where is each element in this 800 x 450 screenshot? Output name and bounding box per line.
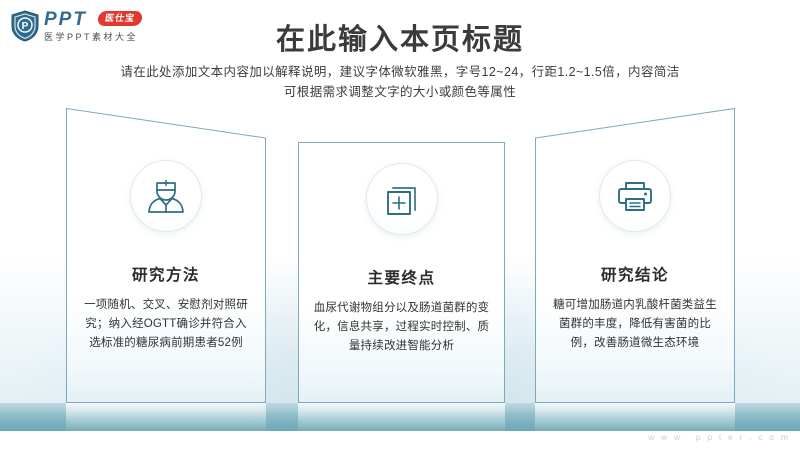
- panel-content: 主要终点 血尿代谢物组分以及肠道菌群的变化，信息共享，过程实时控制、质量持续改进…: [298, 163, 505, 356]
- reflection-panel-2: [298, 403, 505, 431]
- floor-reflections: [0, 403, 800, 431]
- reflection-panel-1: [66, 403, 266, 431]
- doctor-icon: [130, 160, 202, 232]
- subtitle-line-1: 请在此处添加文本内容加以解释说明，建议字体微软雅黑，字号12~24，行距1.2~…: [0, 62, 800, 82]
- printer-icon: [599, 160, 671, 232]
- panel-research-conclusion[interactable]: 研究结论 糖可增加肠道内乳酸杆菌类益生菌群的丰度，降低有害菌的比例，改善肠道微生…: [535, 108, 735, 403]
- panel-content: 研究结论 糖可增加肠道内乳酸杆菌类益生菌群的丰度，降低有害菌的比例，改善肠道微生…: [535, 160, 735, 353]
- panel-body: 一项随机、交叉、安慰剂对照研究；纳入经OGTT确诊并符合入选标准的糖尿病前期患者…: [66, 296, 266, 353]
- panel-body: 糖可增加肠道内乳酸杆菌类益生菌群的丰度，降低有害菌的比例，改善肠道微生态环境: [535, 296, 735, 353]
- panel-primary-endpoint[interactable]: 主要终点 血尿代谢物组分以及肠道菌群的变化，信息共享，过程实时控制、质量持续改进…: [298, 142, 505, 403]
- panel-title: 主要终点: [298, 266, 505, 288]
- panel-content: 研究方法 一项随机、交叉、安慰剂对照研究；纳入经OGTT确诊并符合入选标准的糖尿…: [66, 160, 266, 353]
- panel-body: 血尿代谢物组分以及肠道菌群的变化，信息共享，过程实时控制、质量持续改进智能分析: [298, 299, 505, 356]
- square-plus-layers-icon: [366, 163, 438, 235]
- panel-research-method[interactable]: 研究方法 一项随机、交叉、安慰剂对照研究；纳入经OGTT确诊并符合入选标准的糖尿…: [66, 108, 266, 403]
- page-title: 在此输入本页标题: [0, 16, 800, 58]
- slide-canvas: P PPT 医仕宝 医学PPT素材大全 在此输入本页标题 请在此处添加文本内容加…: [0, 0, 800, 450]
- subtitle-line-2: 可根据需求调整文字的大小或颜色等属性: [0, 82, 800, 102]
- panel-title: 研究方法: [66, 263, 266, 285]
- reflection-panel-3: [535, 403, 735, 431]
- page-subtitle: 请在此处添加文本内容加以解释说明，建议字体微软雅黑，字号12~24，行距1.2~…: [0, 62, 800, 102]
- watermark: w w w . p p t e r . c o m: [648, 432, 790, 442]
- panel-title: 研究结论: [535, 263, 735, 285]
